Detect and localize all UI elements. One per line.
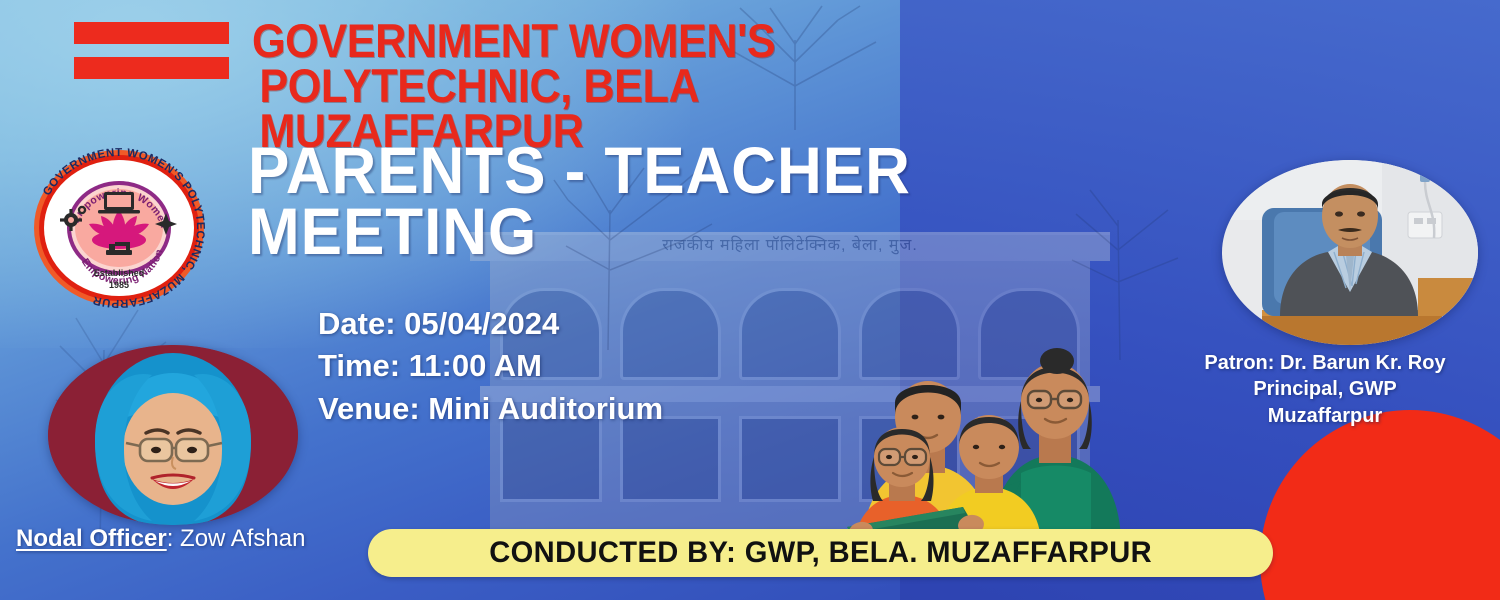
event-time: Time: 11:00 AM [318,345,663,387]
nodal-officer-separator: : [167,525,180,552]
event-banner: राजकीय महिला पॉलिटेक्निक, बेला, मुज. [0,0,1500,600]
event-venue: Venue: Mini Auditorium [318,388,663,430]
nodal-officer-role: Nodal Officer [16,525,167,552]
event-title: PARENTS - TEACHER MEETING [248,140,911,263]
background-tree-icon [1040,170,1190,360]
family-illustration [845,345,1125,545]
patron-name: Patron: Dr. Barun Kr. Roy [1150,350,1500,376]
svg-text:1985: 1985 [109,280,129,290]
organization-name-line1: GOVERNMENT WOMEN'S [252,18,1006,63]
patron-caption: Patron: Dr. Barun Kr. Roy Principal, GWP… [1150,350,1500,429]
nodal-officer-photo [48,345,298,525]
equals-accent-icon [74,22,229,79]
nodal-officer-name: Zow Afshan [180,525,305,552]
event-date: Date: 05/04/2024 [318,303,663,345]
conducted-by-text: CONDUCTED BY: GWP, BELA. MUZAFFARPUR [489,536,1152,570]
building-window [739,416,841,502]
conducted-by-banner: CONDUCTED BY: GWP, BELA. MUZAFFARPUR [368,529,1273,577]
patron-location: Muzaffarpur [1150,403,1500,429]
nodal-officer-caption: Nodal Officer: Zow Afshan [16,525,305,554]
equals-bar-top [74,22,229,44]
equals-bar-bottom [74,57,229,79]
event-details: Date: 05/04/2024 Time: 11:00 AM Venue: M… [318,303,663,430]
building-arch [739,288,841,380]
event-title-line1: PARENTS - TEACHER [248,140,911,201]
event-title-line2: MEETING [248,201,911,262]
patron-designation: Principal, GWP [1150,376,1500,402]
patron-photo [1222,160,1478,345]
svg-text:Established: Established [94,268,145,278]
institute-logo: GOVERNMENT WOMEN'S POLYTECHNIC, MUZAFFAR… [26,148,212,308]
